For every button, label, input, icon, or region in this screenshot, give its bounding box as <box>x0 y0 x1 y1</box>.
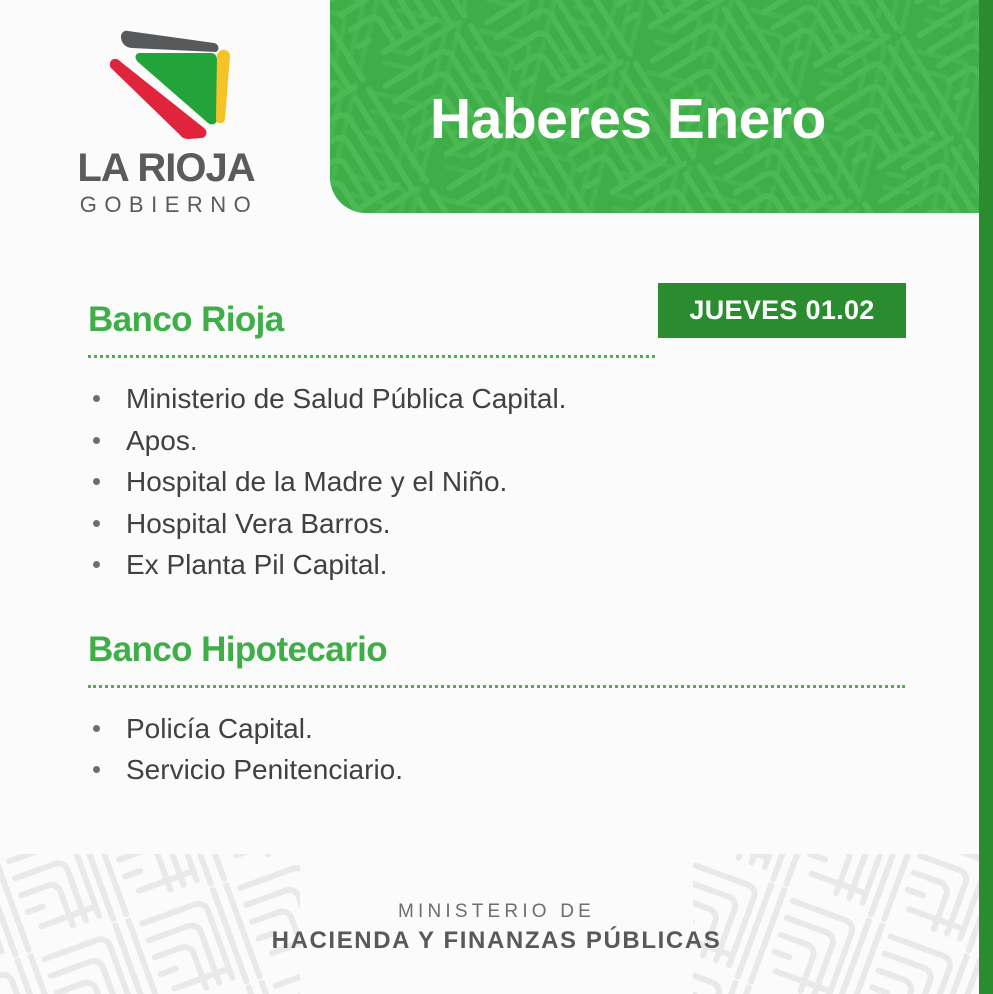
list-item-label: Policía Capital. <box>126 713 313 744</box>
date-badge: JUEVES 01.02 <box>658 283 906 338</box>
bullet-icon <box>93 520 100 527</box>
list-item-label: Apos. <box>126 425 198 456</box>
list-item: Policía Capital. <box>0 708 993 750</box>
list-item-label: Ministerio de Salud Pública Capital. <box>126 383 566 414</box>
list-item: Ministerio de Salud Pública Capital. <box>0 378 993 420</box>
list-item-label: Ex Planta Pil Capital. <box>126 549 387 580</box>
list-item: Hospital de la Madre y el Niño. <box>0 461 993 503</box>
page-title: Haberes Enero <box>430 86 826 152</box>
section-banco-rioja: Banco Rioja JUEVES 01.02 Ministerio de S… <box>0 300 993 586</box>
section-divider <box>88 685 905 688</box>
content-area: Banco Rioja JUEVES 01.02 Ministerio de S… <box>0 300 993 791</box>
bullet-icon <box>93 561 100 568</box>
bullet-icon <box>93 478 100 485</box>
list-item-label: Hospital de la Madre y el Niño. <box>126 466 507 497</box>
header-panel: Haberes Enero <box>330 0 993 213</box>
section-title: Banco Hipotecario <box>88 630 387 670</box>
list-item: Hospital Vera Barros. <box>0 503 993 545</box>
list-item: Ex Planta Pil Capital. <box>0 544 993 586</box>
logo-text-la-rioja: LA RIOJA <box>52 148 280 188</box>
list-item-label: Hospital Vera Barros. <box>126 508 391 539</box>
footer-text-block: MINISTERIO DE HACIENDA Y FINANZAS PÚBLIC… <box>0 900 993 956</box>
entity-list: Policía Capital. Servicio Penitenciario. <box>0 708 993 791</box>
list-item: Servicio Penitenciario. <box>0 749 993 791</box>
logo-text-gobierno: GOBIERNO <box>52 194 280 216</box>
right-accent-bar <box>979 0 993 994</box>
logo-block: LA RIOJA GOBIERNO <box>52 24 280 214</box>
bullet-icon <box>93 725 100 732</box>
section-divider <box>88 355 655 358</box>
footer-ministry-name: HACIENDA Y FINANZAS PÚBLICAS <box>0 926 993 956</box>
la-rioja-triangle-mark-icon <box>104 24 232 142</box>
poster-canvas: Haberes Enero LA RIOJA GOBIERNO Banco Ri… <box>0 0 993 994</box>
bullet-icon <box>93 766 100 773</box>
footer: MINISTERIO DE HACIENDA Y FINANZAS PÚBLIC… <box>0 854 993 994</box>
logo-wordmark: LA RIOJA GOBIERNO <box>52 148 280 216</box>
bullet-icon <box>93 437 100 444</box>
list-item: Apos. <box>0 420 993 462</box>
section-banco-hipotecario: Banco Hipotecario Policía Capital. Servi… <box>0 630 993 791</box>
list-item-label: Servicio Penitenciario. <box>126 754 403 785</box>
footer-ministry-label: MINISTERIO DE <box>0 900 993 924</box>
section-header: Banco Rioja JUEVES 01.02 <box>0 300 993 364</box>
section-title: Banco Rioja <box>88 300 284 340</box>
bullet-icon <box>93 395 100 402</box>
section-header: Banco Hipotecario <box>0 630 993 694</box>
entity-list: Ministerio de Salud Pública Capital. Apo… <box>0 378 993 586</box>
